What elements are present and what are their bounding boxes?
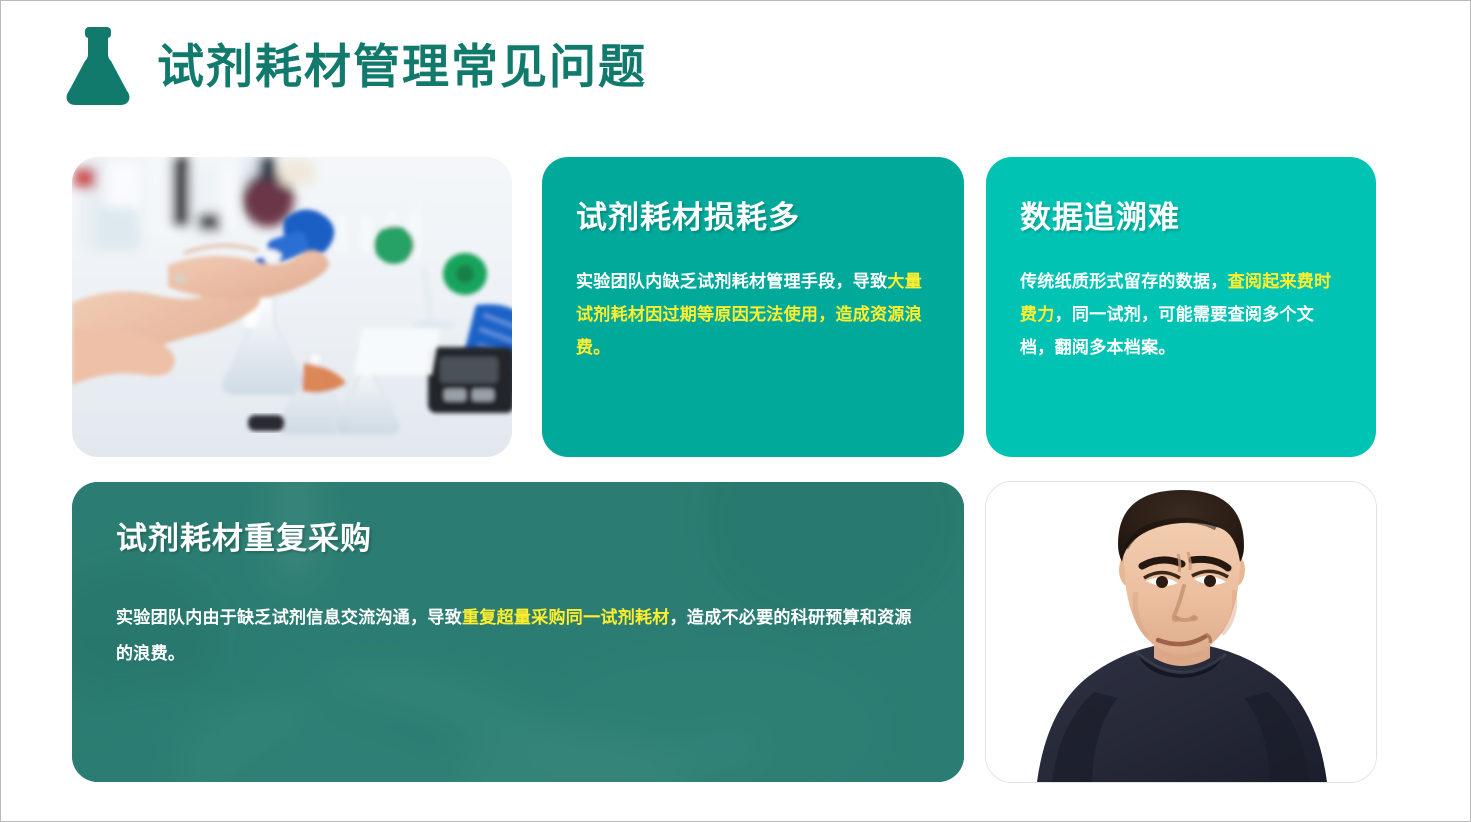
card-body-text-plain-1: 实验团队内由于缺乏试剂信息交流沟通，导致: [116, 608, 462, 627]
lab-photo-card: [72, 157, 512, 457]
card-reagent-loss: 试剂耗材损耗多 实验团队内缺乏试剂耗材管理手段，导致大量试剂耗材因过期等原因无法…: [542, 157, 964, 457]
lab-bench-photo: [72, 157, 512, 457]
card-duplicate-purchase: 试剂耗材重复采购 实验团队内由于缺乏试剂信息交流沟通，导致重复超量采购同一试剂耗…: [72, 482, 964, 782]
card-title-duplicate-purchase: 试剂耗材重复采购: [116, 522, 920, 556]
card-body-text-highlight: 重复超量采购同一试剂耗材: [462, 608, 670, 627]
page-title: 试剂耗材管理常见问题: [157, 43, 647, 90]
card-body-text-plain-2: ，同一试剂，可能需要查阅多个文档，翻阅多本档案。: [1020, 305, 1314, 357]
person-photo-card: [986, 482, 1376, 782]
card-body-text-plain-1: 传统纸质形式留存的数据，: [1020, 272, 1228, 291]
slide: 试剂耗材管理常见问题: [0, 0, 1471, 822]
card-body-text-plain: 实验团队内缺乏试剂耗材管理手段，导致: [576, 272, 887, 291]
slide-header: 试剂耗材管理常见问题: [61, 23, 647, 109]
flask-icon: [61, 23, 135, 109]
card-title-reagent-loss: 试剂耗材损耗多: [576, 201, 930, 235]
card-body-reagent-loss: 实验团队内缺乏试剂耗材管理手段，导致大量试剂耗材因过期等原因无法使用，造成资源浪…: [576, 265, 930, 364]
card-title-data-traceability: 数据追溯难: [1020, 201, 1342, 235]
card-body-duplicate-purchase: 实验团队内由于缺乏试剂信息交流沟通，导致重复超量采购同一试剂耗材，造成不必要的科…: [116, 600, 920, 671]
card-body-data-traceability: 传统纸质形式留存的数据，查阅起来费时费力，同一试剂，可能需要查阅多个文档，翻阅多…: [1020, 265, 1342, 364]
confused-man-photo: [986, 482, 1376, 782]
card-data-traceability: 数据追溯难 传统纸质形式留存的数据，查阅起来费时费力，同一试剂，可能需要查阅多个…: [986, 157, 1376, 457]
